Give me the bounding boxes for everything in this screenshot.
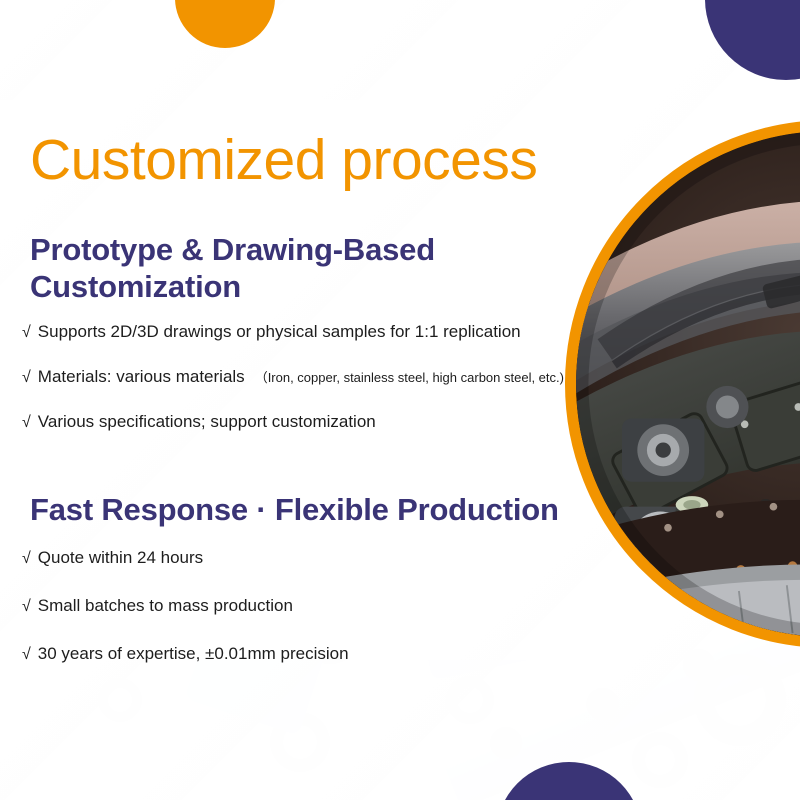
section-heading: Fast Response · Flexible Production — [30, 492, 610, 529]
list-item: √ Various specifications; support custom… — [30, 411, 610, 433]
bullet-list: √ Quote within 24 hours √ Small batches … — [30, 547, 610, 665]
list-item: √ Materials: various materials （Iron, co… — [30, 366, 610, 388]
decor-circle-purple-bottom — [496, 762, 642, 800]
check-mark-icon: √ — [22, 549, 31, 569]
page-title: Customized process — [30, 132, 537, 189]
list-item-text: Supports 2D/3D drawings or physical samp… — [38, 321, 521, 342]
section-fast-response: Fast Response · Flexible Production √ Qu… — [30, 492, 610, 691]
list-item-text: Materials: various materials — [38, 366, 245, 387]
decor-circle-purple-top-right — [705, 0, 800, 80]
check-mark-icon: √ — [22, 597, 31, 617]
list-item: √ Quote within 24 hours — [30, 547, 610, 569]
check-mark-icon: √ — [22, 368, 31, 388]
bullet-list: √ Supports 2D/3D drawings or physical sa… — [30, 321, 610, 433]
list-item: √ 30 years of expertise, ±0.01mm precisi… — [30, 643, 610, 665]
section-heading: Prototype & Drawing-Based Customization — [30, 232, 610, 305]
list-item-text: Small batches to mass production — [38, 595, 293, 616]
section-prototype-customization: Prototype & Drawing-Based Customization … — [30, 232, 610, 456]
decor-circle-orange-top — [175, 0, 275, 48]
poster-canvas: 83 Customized process Prototype & Drawin… — [0, 0, 800, 800]
list-item: √ Supports 2D/3D drawings or physical sa… — [30, 321, 610, 343]
check-mark-icon: √ — [22, 323, 31, 343]
list-item-text: 30 years of expertise, ±0.01mm precision — [38, 643, 349, 664]
check-mark-icon: √ — [22, 645, 31, 665]
check-mark-icon: √ — [22, 413, 31, 433]
list-item-note: （Iron, copper, stainless steel, high car… — [255, 370, 564, 386]
list-item: √ Small batches to mass production — [30, 595, 610, 617]
list-item-text: Quote within 24 hours — [38, 547, 203, 568]
list-item-text: Various specifications; support customiz… — [38, 411, 376, 432]
